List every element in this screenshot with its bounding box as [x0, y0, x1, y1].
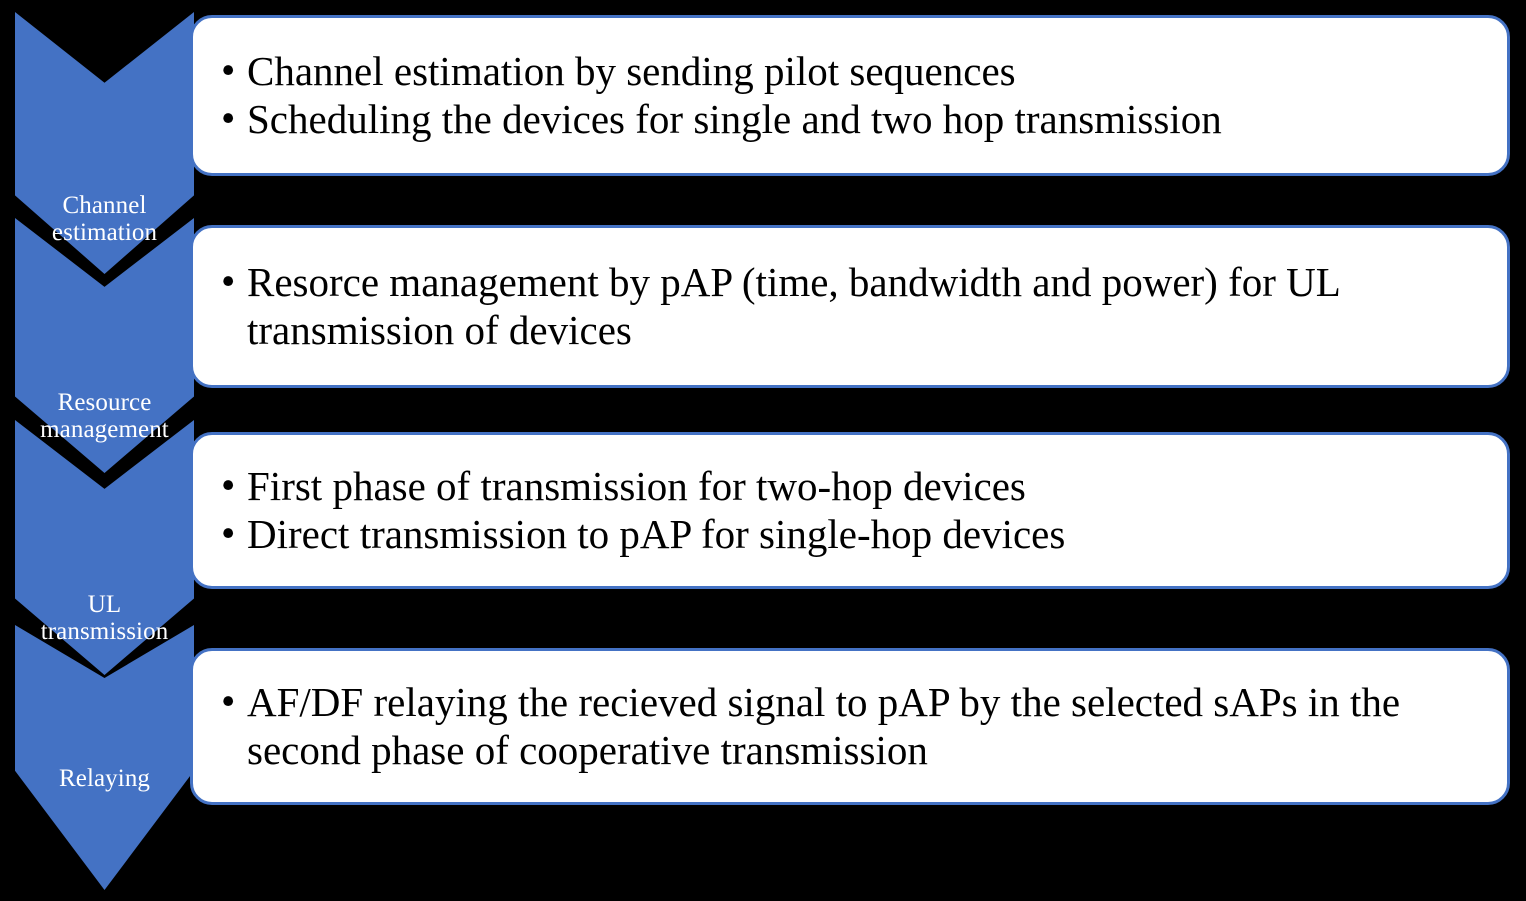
- bullet-item: First phase of transmission for two-hop …: [217, 463, 1491, 510]
- chevron-label-line-1: UL: [19, 591, 190, 618]
- content-box-relaying: AF/DF relaying the recieved signal to pA…: [190, 648, 1510, 805]
- bullet-list-resource-management: Resorce management by pAP (time, bandwid…: [217, 259, 1491, 353]
- bullet-item: Resorce management by pAP (time, bandwid…: [217, 259, 1491, 353]
- bullet-item: Channel estimation by sending pilot sequ…: [217, 48, 1491, 95]
- content-box-resource-management: Resorce management by pAP (time, bandwid…: [190, 225, 1510, 388]
- chevron-label-line-2: estimation: [19, 219, 190, 246]
- chevron-label-line-1: Relaying: [19, 765, 190, 792]
- chevron-step-channel-estimation[interactable]: Channel estimation: [15, 12, 194, 274]
- chevron-label-line-1: Channel: [19, 192, 190, 219]
- content-box-channel-estimation: Channel estimation by sending pilot sequ…: [190, 15, 1510, 176]
- chevron-label-line-2: transmission: [19, 618, 190, 645]
- bullet-list-relaying: AF/DF relaying the recieved signal to pA…: [217, 679, 1491, 773]
- content-box-ul-transmission: First phase of transmission for two-hop …: [190, 432, 1510, 589]
- bullet-list-ul-transmission: First phase of transmission for two-hop …: [217, 463, 1491, 557]
- chevron-label-channel-estimation: Channel estimation: [15, 192, 194, 274]
- chevron-label-line-1: Resource: [19, 389, 190, 416]
- chevron-label-line-2: management: [19, 416, 190, 443]
- bullet-item: Direct transmission to pAP for single-ho…: [217, 511, 1491, 558]
- bullet-item: AF/DF relaying the recieved signal to pA…: [217, 679, 1491, 773]
- chevron-label-relaying: Relaying: [15, 765, 194, 890]
- bullet-list-channel-estimation: Channel estimation by sending pilot sequ…: [217, 48, 1491, 142]
- flow-diagram: Channel estimation Channel estimation by…: [0, 0, 1526, 901]
- chevron-label-resource-management: Resource management: [15, 389, 194, 473]
- bullet-item: Scheduling the devices for single and tw…: [217, 96, 1491, 143]
- chevron-label-ul-transmission: UL transmission: [15, 591, 194, 675]
